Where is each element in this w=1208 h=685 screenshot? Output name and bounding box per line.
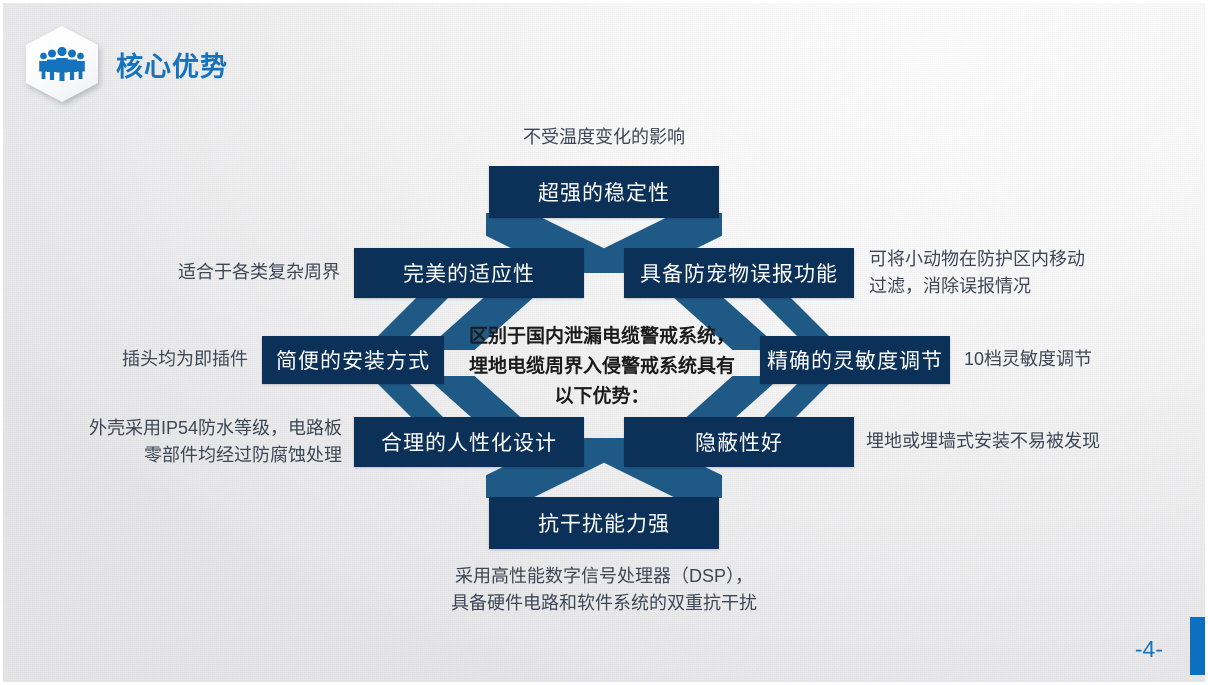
node-label: 抗干扰能力强 [538, 508, 670, 538]
node-label: 超强的稳定性 [538, 177, 670, 207]
caption-easy-install: 插头均为即插件 [16, 346, 248, 373]
caption-pet-immunity: 可将小动物在防护区内移动 过滤，消除误报情况 [869, 246, 1169, 300]
caption-concealment: 埋地或埋墙式安装不易被发现 [866, 428, 1196, 455]
node-label: 具备防宠物误报功能 [640, 258, 838, 288]
node-box-stability[interactable]: 超强的稳定性 [489, 166, 719, 218]
hexagon-shape [26, 26, 98, 102]
node-label: 合理的人性化设计 [381, 427, 557, 457]
people-group-icon [38, 47, 86, 81]
page-number: -4- [1135, 636, 1163, 663]
node-box-ergonomic[interactable]: 合理的人性化设计 [354, 417, 584, 467]
node-label: 精确的灵敏度调节 [767, 345, 943, 375]
caption-ergonomic: 外壳采用IP54防水等级，电路板 零部件均经过防腐蚀处理 [38, 415, 342, 469]
node-label: 完美的适应性 [403, 258, 535, 288]
caption-adaptability: 适合于各类复杂周界 [44, 259, 340, 286]
node-box-pet-immunity[interactable]: 具备防宠物误报功能 [624, 248, 854, 298]
page-title: 核心优势 [116, 45, 228, 84]
node-box-adaptability[interactable]: 完美的适应性 [354, 248, 584, 298]
caption-anti-interference: 采用高性能数字信号处理器（DSP）， 具备硬件电路和软件系统的双重抗干扰 [404, 563, 804, 617]
caption-sensitivity: 10档灵敏度调节 [964, 346, 1204, 373]
node-box-easy-install[interactable]: 简便的安装方式 [262, 336, 444, 384]
caption-stability: 不受温度变化的影响 [454, 124, 754, 151]
node-box-sensitivity[interactable]: 精确的灵敏度调节 [760, 336, 950, 384]
slide-canvas: 核心优势 超强的稳定性 完美的适应性 具备防宠物误报功能 简便的安装方式 精确的… [0, 0, 1208, 685]
node-label: 简便的安装方式 [276, 345, 430, 375]
node-label: 隐蔽性好 [695, 427, 783, 457]
right-edge-accent-bar [1190, 617, 1205, 675]
header-hex-badge [26, 26, 98, 102]
node-box-concealment[interactable]: 隐蔽性好 [624, 417, 854, 467]
center-statement: 区别于国内泄漏电缆警戒系统， 埋地电缆周界入侵警戒系统具有 以下优势： [452, 322, 752, 412]
node-box-anti-interference[interactable]: 抗干扰能力强 [489, 497, 719, 549]
slide-header: 核心优势 [26, 26, 228, 102]
